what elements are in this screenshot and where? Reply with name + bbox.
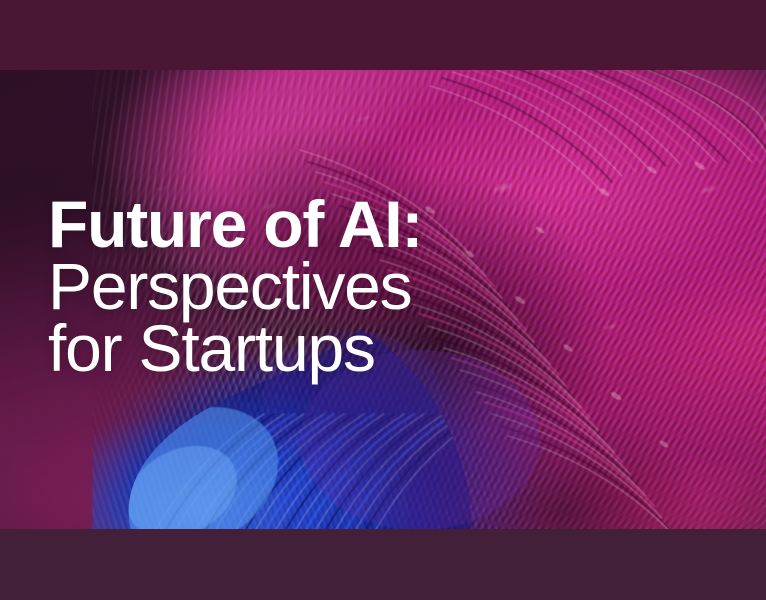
letterbox-bottom-bar <box>0 529 766 600</box>
headline-line-1: Future of AI: <box>48 193 422 255</box>
letterbox-top-bar <box>0 0 766 70</box>
slide-headline: Future of AI: Perspectives for Startups <box>48 193 422 379</box>
title-slide: Future of AI: Perspectives for Startups <box>0 0 766 600</box>
headline-line-3: for Startups <box>48 317 422 379</box>
headline-line-2: Perspectives <box>48 255 422 317</box>
